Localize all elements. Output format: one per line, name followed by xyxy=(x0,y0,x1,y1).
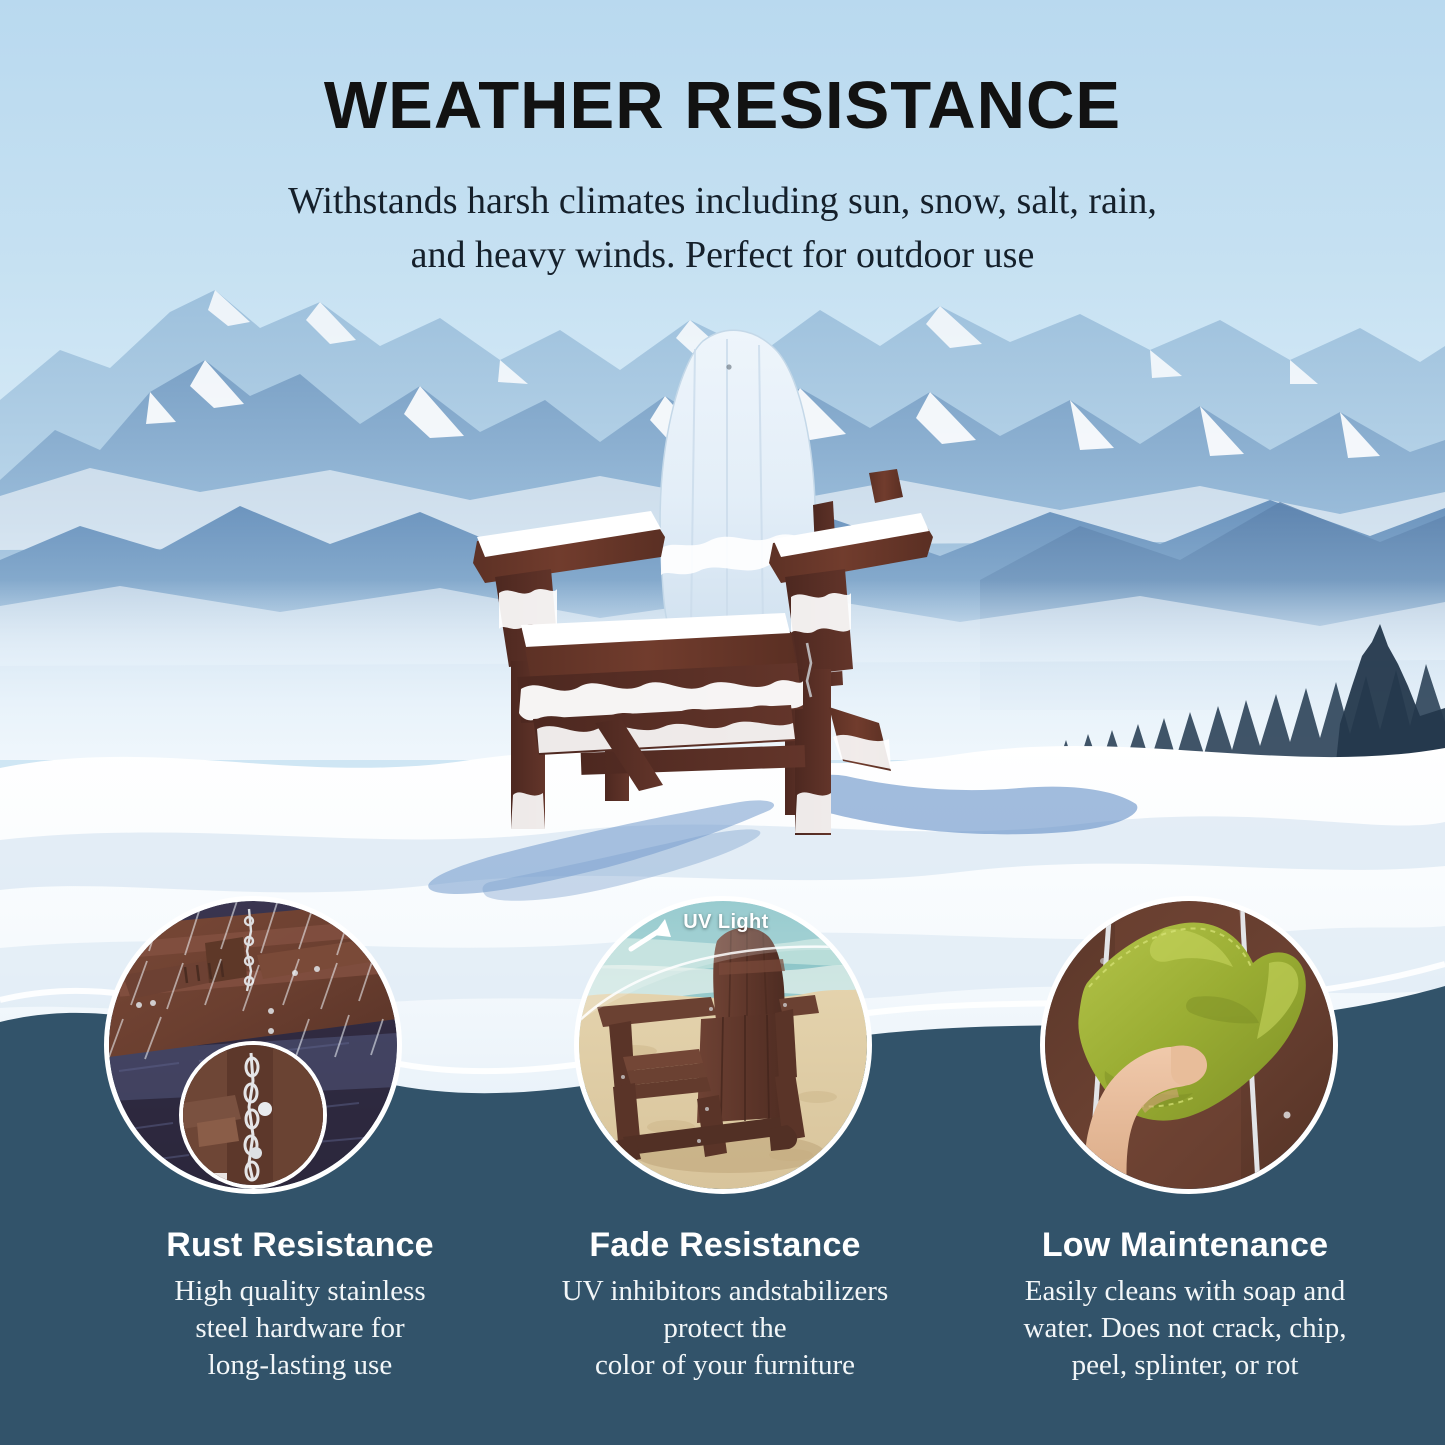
low-maintenance-photo xyxy=(1045,901,1333,1189)
desc-line-3: peel, splinter, or rot xyxy=(1072,1349,1299,1381)
subtitle-line-2: and heavy winds. Perfect for outdoor use xyxy=(0,229,1445,283)
desc-line-1: High quality stainless xyxy=(174,1275,425,1307)
desc-line-3: color of your furniture xyxy=(595,1349,855,1381)
hero-adirondack-chair xyxy=(455,325,950,845)
desc-line-1: Easily cleans with soap and xyxy=(1025,1275,1346,1307)
desc-line-1: UV inhibitors andstabilizers xyxy=(562,1275,888,1307)
subtitle-line-1: Withstands harsh climates including sun,… xyxy=(0,175,1445,229)
page-subtitle: Withstands harsh climates including sun,… xyxy=(0,175,1445,283)
desc-line-2: water. Does not crack, chip, xyxy=(1024,1312,1347,1344)
desc-line-2: steel hardware for xyxy=(195,1312,404,1344)
desc-line-3: long-lasting use xyxy=(208,1349,392,1381)
feature-caption-rust-resistance: Rust Resistance High quality stainless s… xyxy=(65,1228,535,1384)
page-title: WEATHER RESISTANCE xyxy=(0,72,1445,139)
desc-line-2: protect the xyxy=(663,1312,786,1344)
feature-title-low-maintenance: Low Maintenance xyxy=(950,1228,1420,1264)
feature-title-fade-resistance: Fade Resistance xyxy=(490,1228,960,1264)
feature-title-rust-resistance: Rust Resistance xyxy=(65,1228,535,1264)
feature-image-rust-resistance xyxy=(104,896,402,1194)
feature-image-fade-resistance: UV Light xyxy=(574,896,872,1194)
feature-caption-fade-resistance: Fade Resistance UV inhibitors andstabili… xyxy=(490,1228,960,1384)
uv-light-label: UV Light xyxy=(611,911,841,934)
feature-description-low-maintenance: Easily cleans with soap and water. Does … xyxy=(950,1273,1420,1384)
feature-image-low-maintenance xyxy=(1040,896,1338,1194)
feature-description-rust-resistance: High quality stainless steel hardware fo… xyxy=(65,1273,535,1384)
stainless-chain-inset xyxy=(179,1041,327,1189)
feature-caption-low-maintenance: Low Maintenance Easily cleans with soap … xyxy=(950,1228,1420,1384)
weather-resistance-infographic: WEATHER RESISTANCE Withstands harsh clim… xyxy=(0,0,1445,1445)
fade-resistance-photo xyxy=(579,901,867,1189)
feature-description-fade-resistance: UV inhibitors andstabilizers protect the… xyxy=(490,1273,960,1384)
